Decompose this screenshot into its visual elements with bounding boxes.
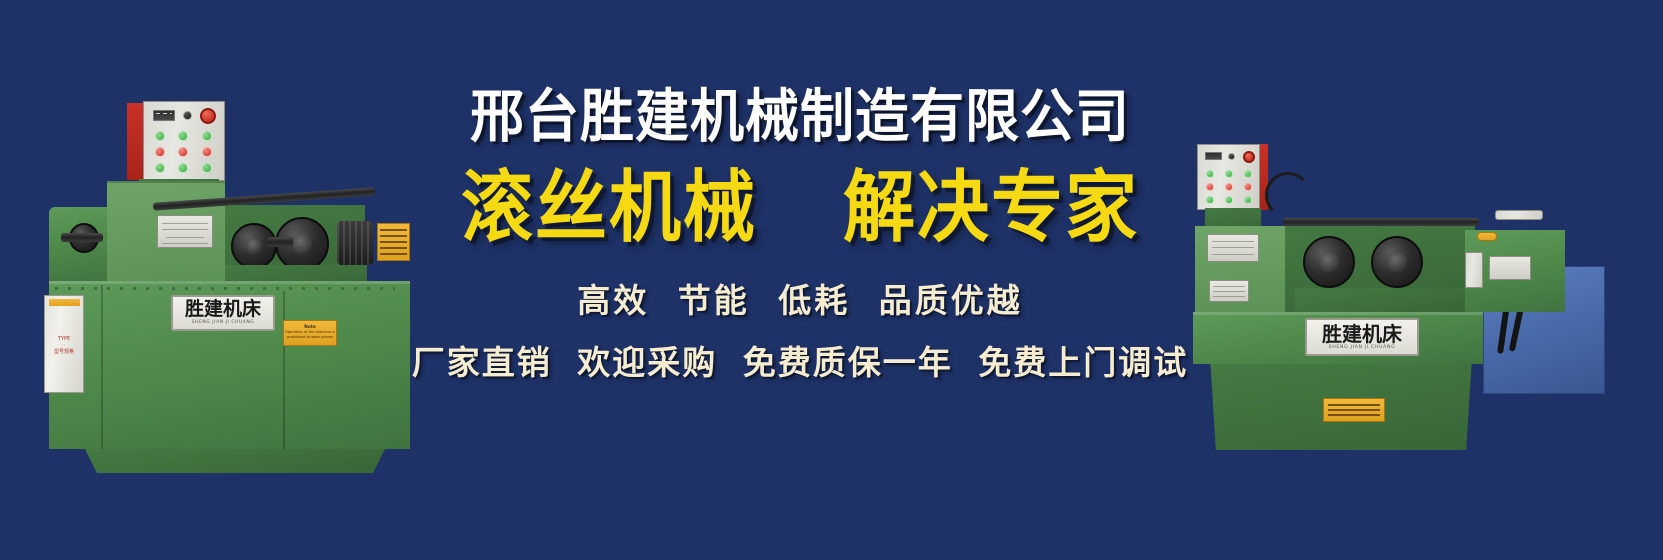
- panel-button[interactable]: [178, 131, 188, 141]
- panel-button[interactable]: [1225, 170, 1233, 178]
- roller-base-plate: [1295, 288, 1465, 312]
- body-seam: [283, 291, 285, 449]
- base-warning-sticker: [1323, 398, 1385, 422]
- panel-button[interactable]: [202, 163, 212, 173]
- emergency-stop-button[interactable]: [1243, 151, 1255, 163]
- panel-seam: [107, 181, 225, 183]
- headline-right: 解决专家: [843, 168, 1139, 246]
- headline-row: 滚丝机械 解决专家: [400, 168, 1200, 240]
- control-panel-side: [127, 103, 144, 180]
- panel-button[interactable]: [1244, 183, 1252, 191]
- panel-cable: [1265, 172, 1311, 218]
- panel-button[interactable]: [178, 163, 188, 173]
- panel-button[interactable]: [178, 147, 188, 157]
- control-panel-right: [1197, 144, 1260, 210]
- thread-rolling-machine-right: 胜建机床 SHENG JIAN JI CHUANG: [1165, 130, 1605, 450]
- selector-knob-icon[interactable]: [1228, 153, 1235, 160]
- nameplate-pinyin: SHENG JIAN JI CHUANG: [1329, 346, 1396, 351]
- sub-line-1: 高效 节能 低耗 品质优越: [400, 274, 1200, 322]
- tailstock-plate: [1489, 256, 1531, 280]
- sub-line-2: 厂家直销 欢迎采购 免费质保一年 免费上门调试: [400, 336, 1200, 384]
- company-name: 邢台胜建机械制造有限公司: [400, 86, 1200, 148]
- body-seam: [101, 285, 103, 449]
- bolt-row: [55, 287, 395, 290]
- thread-rolling-machine-left: 胜建机床 SHENG JIAN JI CHUANG Note Operation…: [35, 95, 410, 475]
- top-guide-rail: [1283, 218, 1479, 226]
- body-highlight: [1193, 312, 1483, 315]
- headline-left: 滚丝机械: [461, 168, 757, 246]
- machine-base-plinth: [85, 449, 385, 473]
- machine-side-cabinet: TYPE · 型号规格: [44, 295, 84, 393]
- promotional-banner: 胜建机床 SHENG JIAN JI CHUANG Note Operation…: [0, 0, 1663, 560]
- panel-button[interactable]: [1206, 183, 1214, 191]
- panel-button[interactable]: [202, 131, 212, 141]
- machine-note-sticker: Note Operation of the machine is prohibi…: [283, 320, 337, 346]
- panel-button[interactable]: [1244, 196, 1252, 204]
- cabinet-top-strip: [49, 299, 80, 306]
- panel-button[interactable]: [1206, 196, 1214, 204]
- machine-spec-plate: [157, 215, 213, 248]
- machine-spec-plate-lower: [1209, 280, 1249, 302]
- body-highlight: [49, 281, 410, 284]
- emergency-stop-button[interactable]: [200, 108, 216, 124]
- thread-roller-die: [1303, 236, 1355, 288]
- drive-motor: [337, 221, 373, 265]
- nameplate-brand: 胜建机床: [185, 300, 261, 319]
- cabinet-label: TYPE · 型号规格: [45, 336, 83, 355]
- panel-button[interactable]: [202, 147, 212, 157]
- roller-connecting-shaft: [267, 237, 293, 247]
- panel-button[interactable]: [1225, 196, 1233, 204]
- terminal-block-icon: [1477, 232, 1497, 241]
- machine-nameplate: 胜建机床 SHENG JIAN JI CHUANG: [171, 295, 275, 331]
- cabinet-label-line-3: 型号规格: [45, 349, 83, 355]
- machine-spec-plate: [1207, 234, 1259, 262]
- panel-button[interactable]: [155, 147, 165, 157]
- panel-display-icon: [1205, 152, 1222, 160]
- nameplate-brand: 胜建机床: [1322, 324, 1402, 344]
- thread-roller-die: [1371, 236, 1423, 288]
- drive-shaft: [61, 233, 103, 242]
- tooling-bracket: [1465, 252, 1483, 288]
- panel-button[interactable]: [1244, 170, 1252, 178]
- panel-button[interactable]: [1206, 170, 1214, 178]
- nameplate-pinyin: SHENG JIAN JI CHUANG: [192, 321, 254, 325]
- work-table: [1495, 210, 1543, 220]
- machine-nameplate: 胜建机床 SHENG JIAN JI CHUANG: [1305, 318, 1419, 356]
- banner-text-block: 邢台胜建机械制造有限公司 滚丝机械 解决专家 高效 节能 低耗 品质优越 厂家直…: [400, 86, 1200, 384]
- panel-button[interactable]: [155, 131, 165, 141]
- selector-knob-icon[interactable]: [183, 111, 192, 120]
- panel-button[interactable]: [1225, 183, 1233, 191]
- panel-display-icon: [153, 110, 175, 121]
- panel-button[interactable]: [155, 163, 165, 173]
- control-panel-left: [143, 101, 225, 181]
- note-text-line-2: prohibited to wear gloves: [287, 335, 333, 340]
